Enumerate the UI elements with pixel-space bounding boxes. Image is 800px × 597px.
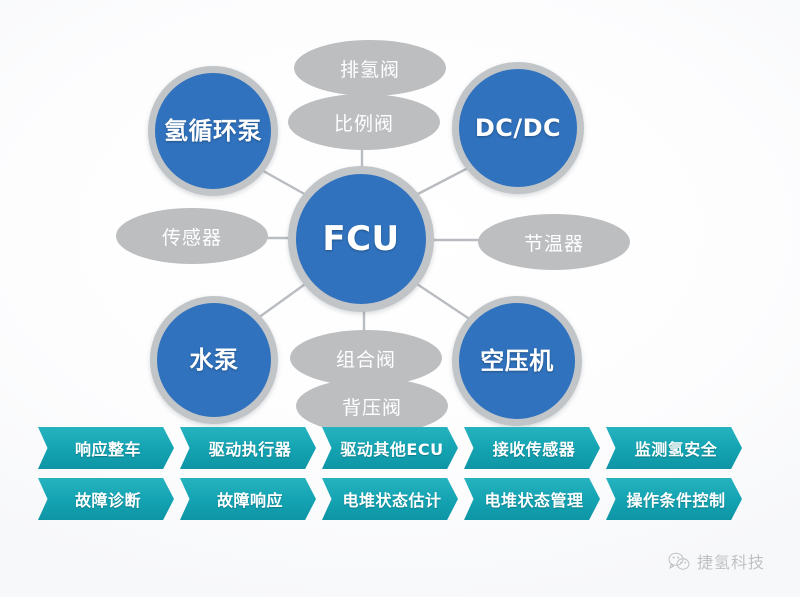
pill-label: 背压阀	[342, 393, 402, 420]
link-fcu-air-compressor	[414, 282, 468, 318]
pill-sensor[interactable]: 传感器	[116, 208, 268, 264]
chip-stack-state-estimation[interactable]: 电堆状态估计	[322, 478, 458, 520]
chip-fault-diagnosis[interactable]: 故障诊断	[38, 478, 174, 520]
diagram-canvas: 排氢阀 比例阀 传感器 节温器 组合阀 背压阀 氢循环泵 DC/DC 水泵 空压…	[0, 0, 800, 597]
node-hydrogen-circulation-pump[interactable]: 氢循环泵	[148, 66, 278, 196]
chip-label: 响应整车	[71, 436, 141, 460]
chip-label: 接收传感器	[489, 436, 576, 460]
link-fcu-water-pump	[258, 282, 308, 318]
pill-hydrogen-vent-valve[interactable]: 排氢阀	[294, 40, 446, 96]
node-fcu-core[interactable]: FCU	[288, 166, 434, 312]
node-air-compressor[interactable]: 空压机	[452, 296, 582, 426]
chip-fault-response[interactable]: 故障响应	[180, 478, 316, 520]
link-fcu-hydrogen-pump	[258, 168, 308, 196]
node-label: 空压机	[480, 349, 554, 373]
node-label: 水泵	[190, 348, 239, 372]
watermark-brand: 捷氢科技	[697, 549, 765, 573]
chip-label: 电堆状态估计	[338, 487, 441, 511]
chip-operating-condition-control[interactable]: 操作条件控制	[606, 478, 742, 520]
chip-monitor-hydrogen-safety[interactable]: 监测氢安全	[606, 427, 742, 469]
pill-label: 比例阀	[334, 109, 394, 136]
chip-drive-actuator[interactable]: 驱动执行器	[180, 427, 316, 469]
chip-label: 电堆状态管理	[480, 487, 583, 511]
node-label: FCU	[322, 222, 399, 256]
node-label: 氢循环泵	[164, 119, 262, 143]
chip-drive-other-ecu[interactable]: 驱动其他ECU	[322, 427, 458, 469]
wechat-icon	[668, 552, 690, 571]
chip-stack-state-management[interactable]: 电堆状态管理	[464, 478, 600, 520]
chip-receive-sensor[interactable]: 接收传感器	[464, 427, 600, 469]
chip-label: 操作条件控制	[622, 487, 725, 511]
watermark: 捷氢科技	[668, 549, 765, 573]
node-label: DC/DC	[475, 116, 561, 140]
node-dcdc-converter[interactable]: DC/DC	[452, 62, 584, 194]
chip-label: 驱动执行器	[205, 436, 292, 460]
pill-label: 组合阀	[336, 345, 396, 372]
chip-label: 驱动其他ECU	[336, 436, 443, 460]
pill-proportional-valve[interactable]: 比例阀	[288, 94, 440, 150]
pill-thermostat[interactable]: 节温器	[478, 214, 630, 270]
chip-label: 监测氢安全	[631, 436, 718, 460]
chip-label: 故障诊断	[71, 487, 141, 511]
pill-label: 节温器	[524, 229, 584, 256]
pill-label: 排氢阀	[340, 55, 400, 82]
chip-label: 故障响应	[213, 487, 283, 511]
node-water-pump[interactable]: 水泵	[150, 296, 278, 424]
pill-back-pressure-valve[interactable]: 背压阀	[296, 378, 448, 434]
pill-label: 传感器	[162, 223, 222, 250]
link-fcu-dcdc	[414, 168, 468, 196]
chip-respond-vehicle[interactable]: 响应整车	[38, 427, 174, 469]
